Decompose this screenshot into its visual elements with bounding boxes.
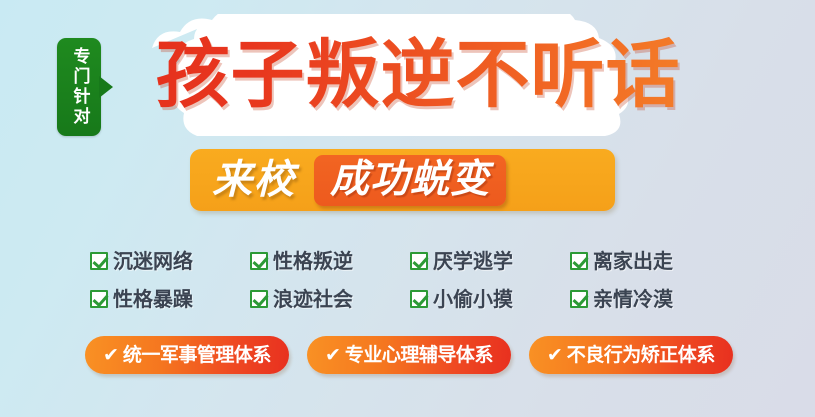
check-icon: ✔: [325, 346, 341, 365]
subbanner-pill: 成功蜕变: [314, 155, 506, 206]
feature-pill-row: ✔ 统一军事管理体系 ✔ 专业心理辅导体系 ✔ 不良行为矫正体系: [85, 336, 730, 374]
list-item-label: 性格暴躁: [113, 289, 193, 309]
page-title: 孩子叛逆不听话: [118, 26, 718, 124]
feature-pill-label: 不良行为矫正体系: [567, 346, 715, 365]
feature-pill-military-management[interactable]: ✔ 统一军事管理体系: [85, 336, 289, 374]
feature-pill-label: 专业心理辅导体系: [345, 346, 493, 365]
feature-pill-label: 统一军事管理体系: [123, 346, 271, 365]
list-item-label: 小偷小摸: [433, 289, 513, 309]
feature-pill-behavior-correction[interactable]: ✔ 不良行为矫正体系: [529, 336, 733, 374]
target-audience-tag: 专门针对: [57, 38, 101, 136]
subbanner: 来校 成功蜕变: [190, 149, 615, 211]
list-item: 浪迹社会: [250, 281, 410, 317]
checkbox-checked-icon: [250, 290, 268, 308]
list-item-label: 性格叛逆: [273, 251, 353, 271]
subbanner-pill-text: 成功蜕变: [330, 160, 490, 199]
list-item: 小偷小摸: [410, 281, 570, 317]
list-item-label: 厌学逃学: [433, 251, 513, 271]
checkbox-checked-icon: [570, 252, 588, 270]
list-item: 厌学逃学: [410, 243, 570, 279]
checkbox-checked-icon: [410, 252, 428, 270]
symptom-checklist: 沉迷网络 性格叛逆 厌学逃学 离家出走 性格暴躁 浪迹社会 小偷小摸 亲情冷漠: [90, 243, 730, 317]
list-item: 沉迷网络: [90, 243, 250, 279]
checkbox-checked-icon: [570, 290, 588, 308]
list-item-label: 离家出走: [593, 251, 673, 271]
list-item: 亲情冷漠: [570, 281, 730, 317]
check-icon: ✔: [547, 346, 563, 365]
list-item: 性格叛逆: [250, 243, 410, 279]
checkbox-checked-icon: [250, 252, 268, 270]
check-icon: ✔: [103, 346, 119, 365]
list-item-label: 浪迹社会: [273, 289, 353, 309]
checkbox-checked-icon: [90, 290, 108, 308]
feature-pill-psychological-counseling[interactable]: ✔ 专业心理辅导体系: [307, 336, 511, 374]
tag-pointer-icon: [99, 76, 113, 98]
list-item-label: 沉迷网络: [113, 251, 193, 271]
list-item: 性格暴躁: [90, 281, 250, 317]
checkbox-checked-icon: [90, 252, 108, 270]
checkbox-checked-icon: [410, 290, 428, 308]
list-item-label: 亲情冷漠: [593, 289, 673, 309]
subbanner-lead-text: 来校: [212, 160, 296, 200]
list-item: 离家出走: [570, 243, 730, 279]
headline-area: 孩子叛逆不听话 专门针对: [0, 0, 815, 148]
target-audience-tag-label: 专门针对: [71, 47, 88, 127]
